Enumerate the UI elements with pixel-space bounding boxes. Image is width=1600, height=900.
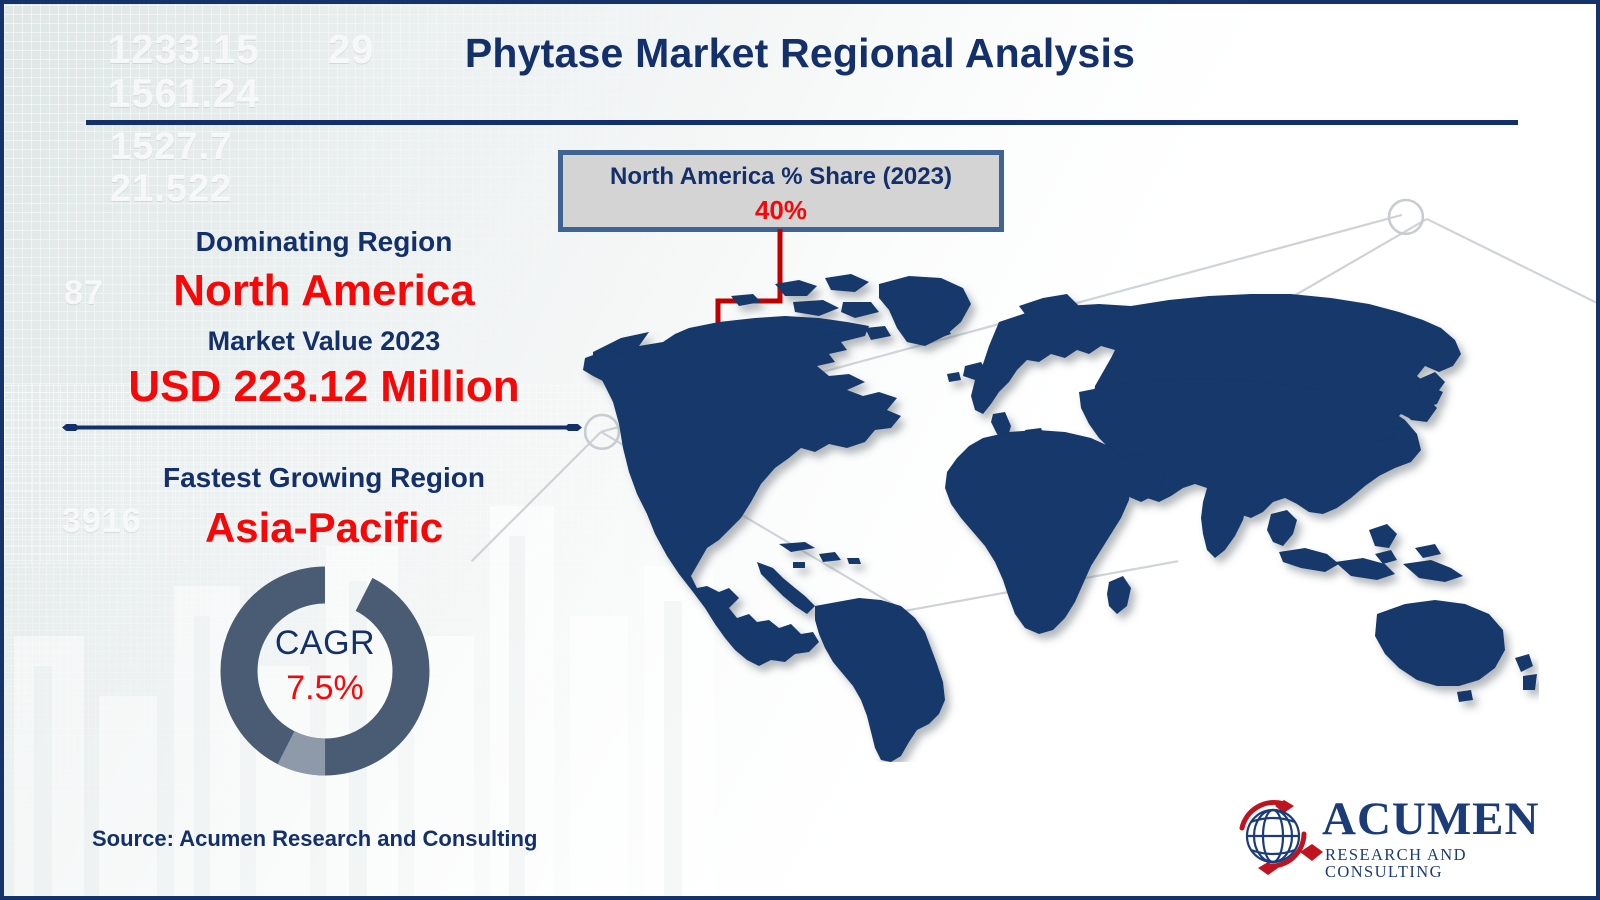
sumatra bbox=[1279, 548, 1339, 572]
arctic-island-4 bbox=[841, 302, 879, 318]
callout-title: North America % Share (2023) bbox=[563, 163, 999, 191]
section-divider bbox=[62, 424, 582, 431]
central-america bbox=[757, 562, 815, 614]
north-america-share-callout: North America % Share (2023) 40% bbox=[558, 150, 1004, 232]
arctic-island-2 bbox=[825, 274, 869, 292]
cuba bbox=[779, 542, 815, 552]
india bbox=[1201, 486, 1247, 558]
fastest-region-label: Fastest Growing Region bbox=[64, 462, 584, 494]
callout-value: 40% bbox=[563, 195, 999, 226]
world-map bbox=[579, 262, 1539, 762]
background-number-1: 1561.24 bbox=[108, 72, 260, 117]
background-number-2: 1527.7 bbox=[110, 126, 232, 169]
ireland bbox=[947, 372, 961, 382]
logo-tagline: RESEARCH AND CONSULTING bbox=[1325, 847, 1526, 880]
map-landmasses bbox=[583, 274, 1537, 762]
africa bbox=[945, 430, 1131, 634]
arctic-island-3 bbox=[793, 300, 839, 316]
fastest-region-value: Asia-Pacific bbox=[64, 504, 584, 552]
dominating-region-label: Dominating Region bbox=[64, 226, 584, 258]
madagascar bbox=[1107, 576, 1131, 614]
arctic-island-1 bbox=[775, 280, 817, 296]
arctic-island-5 bbox=[731, 294, 761, 306]
philippines-2 bbox=[1375, 550, 1397, 564]
philippines-1 bbox=[1369, 524, 1397, 548]
hispaniola bbox=[819, 552, 841, 562]
sulawesi bbox=[1415, 544, 1441, 558]
source-text: Source: Acumen Research and Consulting bbox=[92, 826, 537, 852]
title-divider bbox=[86, 120, 1518, 125]
dominating-region-value: North America bbox=[64, 266, 584, 316]
cagr-donut-chart: CAGR 7.5% bbox=[216, 562, 434, 780]
background-number-3: 21.522 bbox=[110, 168, 232, 211]
acumen-logo: ACUMEN RESEARCH AND CONSULTING bbox=[1226, 794, 1526, 880]
donut-value: 7.5% bbox=[216, 669, 434, 708]
south-america bbox=[815, 598, 945, 762]
market-value-label: Market Value 2023 bbox=[64, 326, 584, 357]
world-map-svg bbox=[579, 262, 1539, 762]
indochina bbox=[1267, 510, 1297, 546]
puerto-rico bbox=[847, 558, 861, 564]
tasmania bbox=[1457, 690, 1473, 702]
logo-wordmark: ACUMEN bbox=[1322, 796, 1539, 843]
new-zealand-north bbox=[1515, 654, 1533, 672]
arctic-island-7 bbox=[865, 326, 891, 340]
new-zealand-south bbox=[1523, 674, 1537, 690]
infographic-canvas: 1233.15 1561.24 1527.7 21.522 87 3916 29… bbox=[0, 0, 1600, 900]
market-value-value: USD 223.12 Million bbox=[44, 362, 604, 412]
page-title: Phytase Market Regional Analysis bbox=[4, 30, 1596, 77]
australia bbox=[1375, 600, 1505, 686]
donut-label: CAGR bbox=[216, 624, 434, 663]
jamaica bbox=[793, 562, 805, 568]
new-guinea bbox=[1403, 560, 1463, 582]
